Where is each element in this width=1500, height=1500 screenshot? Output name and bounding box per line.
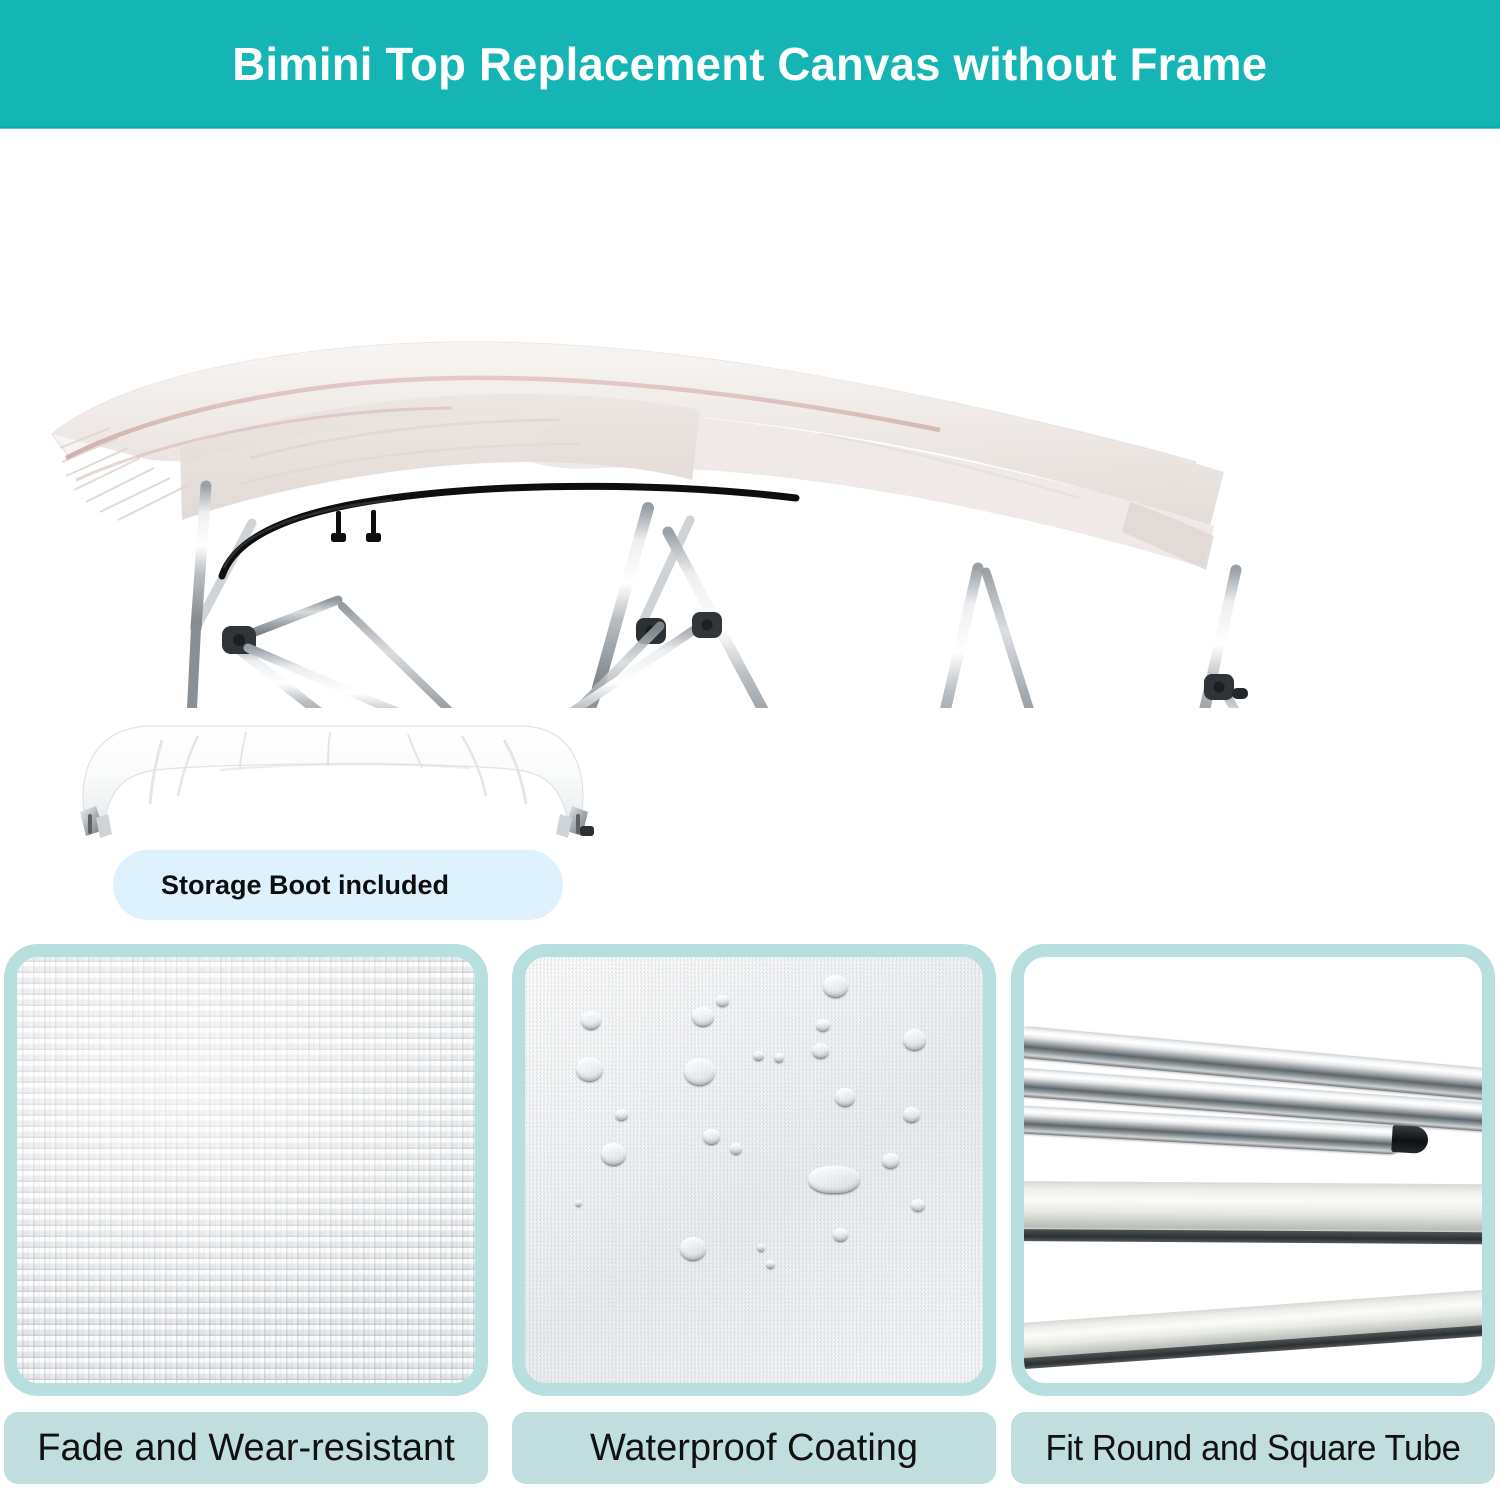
water-droplet (680, 1237, 706, 1260)
feature-panel-waterproof: Waterproof Coating (512, 944, 996, 1500)
water-droplet (730, 1143, 742, 1154)
feature-label-bar: Waterproof Coating (512, 1412, 996, 1484)
feature-label: Waterproof Coating (512, 1427, 996, 1470)
square-tube-upper (1024, 1181, 1482, 1236)
square-tube-upper-edge (1024, 1229, 1482, 1244)
water-droplet (808, 1166, 860, 1193)
water-droplet (692, 1007, 714, 1026)
water-droplet (833, 1228, 848, 1241)
water-droplet (601, 1143, 626, 1165)
bow-1-lower-leg (190, 628, 196, 708)
water-droplet (835, 1088, 855, 1106)
water-droplet (774, 1053, 784, 1062)
page-title: Bimini Top Replacement Canvas without Fr… (232, 37, 1267, 91)
bimini-top-illustration (0, 128, 1500, 708)
fabric-swatch-image (17, 957, 475, 1383)
water-droplet (575, 1200, 582, 1206)
water-droplet (816, 1019, 830, 1031)
water-droplet (576, 1057, 603, 1081)
feature-panel-frame (1011, 944, 1495, 1396)
water-droplet (911, 1199, 925, 1211)
feature-panel-frame (512, 944, 996, 1396)
water-droplet (823, 975, 848, 997)
storage-boot-illustration (70, 718, 600, 838)
bow-4-knob (1232, 688, 1248, 699)
bow-3-diagonal (986, 572, 1048, 708)
water-droplet (882, 1153, 899, 1168)
bow-3-upright (932, 568, 978, 708)
fabric-sheen-overlay (17, 957, 475, 1383)
water-droplet (766, 1260, 775, 1268)
feature-panel-fade-resistant: Fade and Wear-resistant (4, 944, 488, 1500)
feature-label-bar: Fade and Wear-resistant (4, 1412, 488, 1484)
water-droplet (615, 1109, 628, 1120)
water-droplet (753, 1051, 764, 1060)
feature-label: Fit Round and Square Tube (1021, 1427, 1486, 1469)
feature-label: Fade and Wear-resistant (4, 1427, 488, 1470)
storage-boot-callout: Storage Boot included (113, 850, 563, 920)
brace-left-lower (342, 606, 500, 708)
bow-2-diagonal (668, 532, 792, 708)
tube-end-cap (1391, 1125, 1428, 1154)
water-droplet (812, 1043, 829, 1058)
feature-panel-frame (4, 944, 488, 1396)
feature-label-bar: Fit Round and Square Tube (1011, 1412, 1495, 1484)
bimini-top-hero-image (0, 128, 1500, 708)
storage-boot-right-clamp (556, 806, 594, 838)
feature-panels: Fade and Wear-resistant (0, 944, 1500, 1500)
water-droplet (581, 1011, 601, 1029)
water-droplet (703, 1129, 720, 1144)
aluminum-tubes-group (1024, 957, 1482, 1383)
water-droplet (684, 1058, 715, 1085)
water-droplets-group (525, 957, 983, 1383)
bimini-zipper-pulls (331, 510, 381, 542)
water-droplet-image (525, 957, 983, 1383)
tubes-image (1024, 957, 1482, 1383)
water-droplet (757, 1244, 765, 1251)
brace-left-upper (248, 648, 500, 708)
page-header-band: Bimini Top Replacement Canvas without Fr… (0, 0, 1500, 128)
storage-boot-body (83, 726, 583, 822)
storage-boot-callout-label: Storage Boot included (113, 870, 449, 901)
feature-panel-tube-fit: Fit Round and Square Tube (1011, 944, 1495, 1500)
water-droplet (903, 1107, 920, 1122)
water-droplet (716, 995, 729, 1006)
water-droplet (903, 1029, 926, 1050)
bimini-zipper (222, 486, 796, 576)
storage-boot-image (70, 718, 600, 838)
